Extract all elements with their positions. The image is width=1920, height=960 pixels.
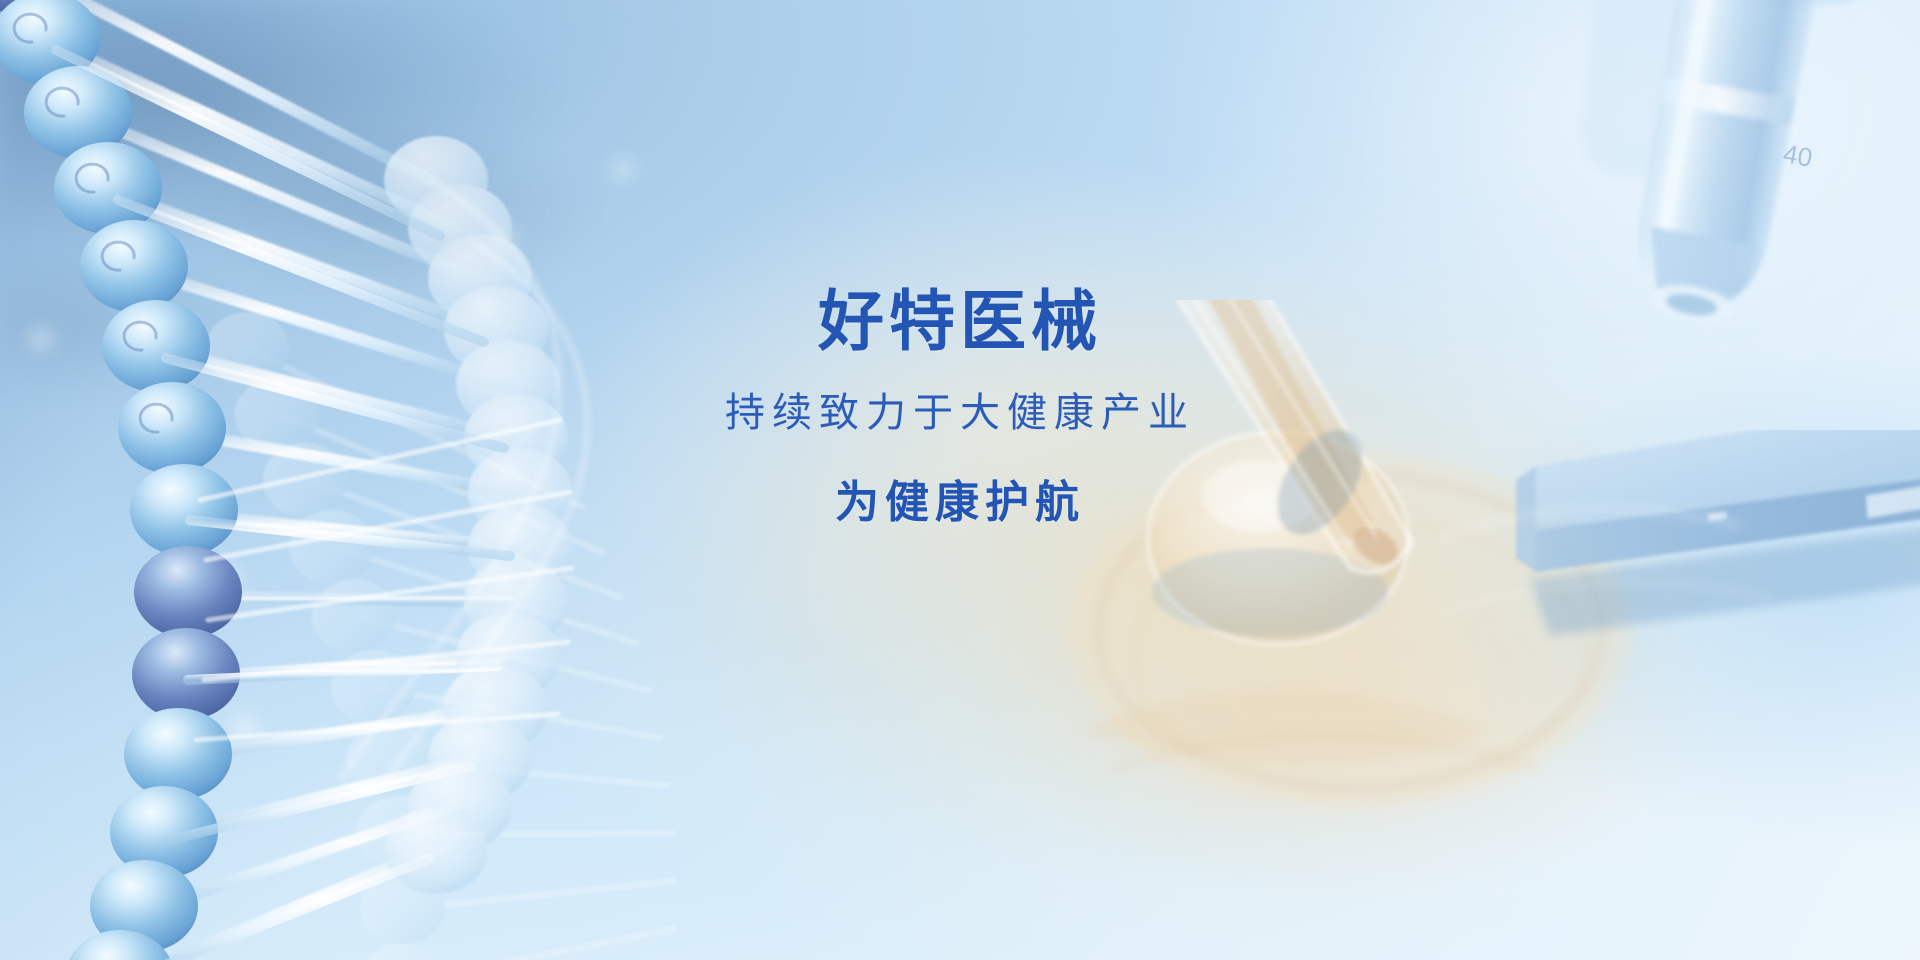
- company-title: 好特医械: [0, 286, 1920, 357]
- company-tagline: 为健康护航: [0, 479, 1920, 527]
- hero-banner: 40: [0, 0, 1920, 960]
- hero-text-block: 好特医械 持续致力于大健康产业 为健康护航: [0, 286, 1920, 528]
- microscope-magnification-label: 40: [1781, 138, 1815, 173]
- company-subtitle: 持续致力于大健康产业: [0, 391, 1920, 435]
